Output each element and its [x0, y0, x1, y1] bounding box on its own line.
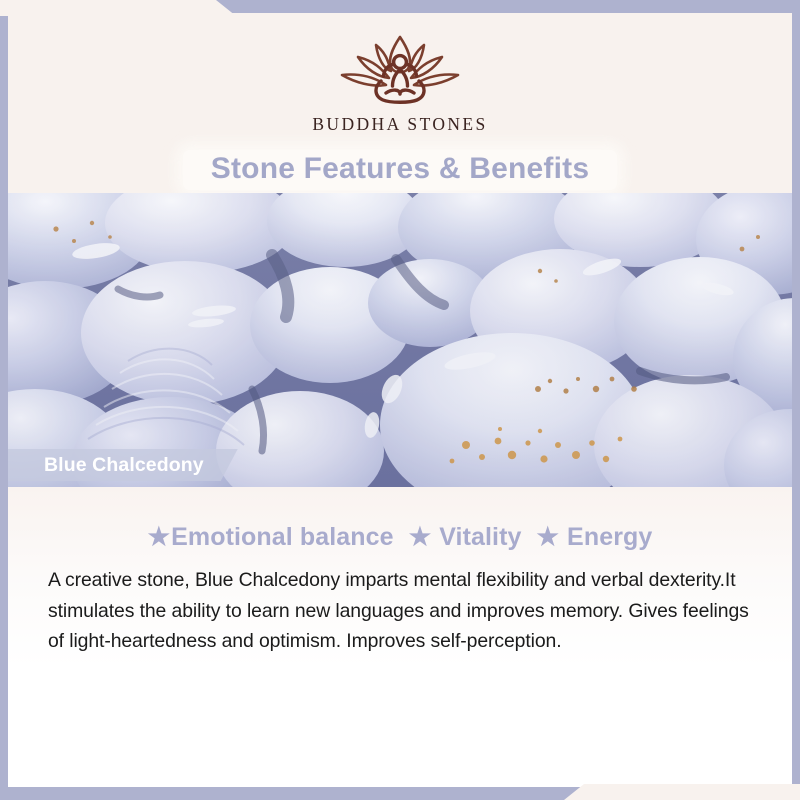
brand-wordmark: BUDDHA STONES	[312, 114, 487, 135]
stone-name-chip: Blue Chalcedony	[8, 449, 238, 481]
benefits-row: ★ Emotional balance ★ Vitality ★ Energy	[40, 487, 760, 552]
content-area: ★ Emotional balance ★ Vitality ★ Energy …	[8, 487, 792, 787]
page-title: Stone Features & Benefits	[211, 152, 589, 186]
title-plate: Stone Features & Benefits	[183, 150, 617, 190]
benefit-item-vitality: ★ Vitality	[409, 523, 522, 552]
benefit-label: Vitality	[439, 523, 521, 552]
stone-photo: Blue Chalcedony	[8, 193, 792, 487]
star-icon: ★	[409, 525, 432, 550]
stone-name-label: Blue Chalcedony	[44, 454, 204, 477]
stone-description: A creative stone, Blue Chalcedony impart…	[40, 565, 760, 657]
inner-panel: BUDDHA STONES Stone Features & Benefits	[8, 13, 792, 787]
corner-accent-top-left	[0, 0, 236, 16]
star-icon: ★	[537, 525, 560, 550]
benefit-label: Emotional balance	[171, 523, 394, 552]
brand-logo-block: BUDDHA STONES	[8, 13, 792, 146]
star-icon: ★	[148, 525, 171, 550]
benefit-label: Energy	[567, 523, 652, 552]
corner-accent-bottom-right	[564, 784, 800, 800]
lotus-meditation-figure-icon	[334, 31, 466, 111]
benefit-item-energy: ★ Energy	[537, 523, 653, 552]
poster-root: BUDDHA STONES Stone Features & Benefits	[0, 0, 800, 800]
benefit-item-emotional-balance: ★ Emotional balance	[148, 523, 394, 552]
title-banner: Stone Features & Benefits	[8, 146, 792, 193]
